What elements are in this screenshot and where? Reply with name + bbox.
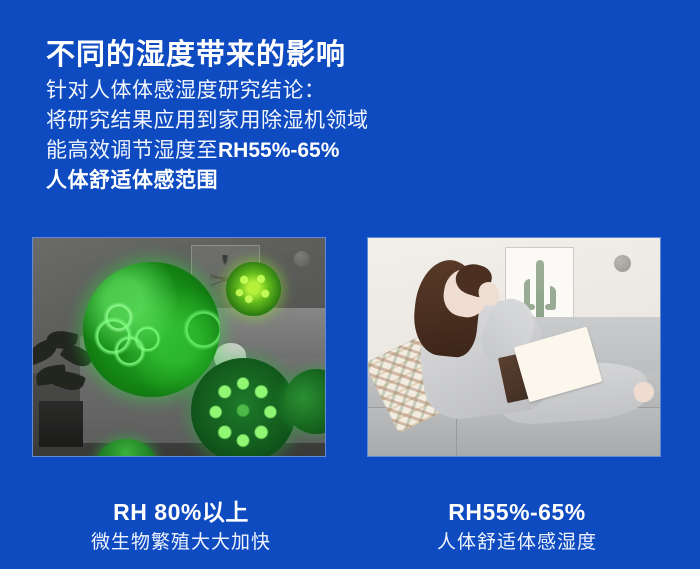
plant-pot [39, 401, 83, 447]
intro-line-3: 能高效调节湿度至RH55%-65% [46, 136, 369, 166]
cactus-stem [536, 260, 544, 325]
caption-high-humidity: RH 80%以上 微生物繁殖大大加快 [16, 497, 346, 556]
microbe-cluster-large-icon [83, 262, 220, 397]
caption-title: RH 80%以上 [16, 497, 346, 527]
intro-line-3-prefix: 能高效调节湿度至 [46, 139, 218, 162]
photo-panel-high-humidity [33, 238, 325, 456]
scene-bright-room-woman-reading [368, 238, 660, 456]
scene-dim-room-microbes [33, 238, 325, 456]
photo-panel-comfort-humidity [368, 238, 660, 456]
cactus-arm-right [550, 286, 556, 310]
caption-title: RH55%-65% [352, 497, 682, 527]
humidity-range-emphasis: RH55%-65% [218, 139, 339, 162]
humidity-comparison-slide: 不同的湿度带来的影响 针对人体体感湿度研究结论： 将研究结果应用到家用除湿机领域… [0, 0, 700, 569]
virus-sphere-icon [191, 358, 296, 456]
intro-line-4: 人体舒适体感范围 [46, 166, 369, 196]
caption-subtitle: 人体舒适体感湿度 [352, 530, 682, 556]
intro-paragraph: 针对人体体感湿度研究结论： 将研究结果应用到家用除湿机领域 能高效调节湿度至RH… [46, 76, 369, 196]
page-title: 不同的湿度带来的影响 [46, 37, 346, 73]
caption-subtitle: 微生物繁殖大大加快 [16, 530, 346, 556]
caption-comfort-humidity: RH55%-65% 人体舒适体感湿度 [352, 497, 682, 556]
intro-line-2: 将研究结果应用到家用除湿机领域 [46, 106, 369, 136]
intro-line-1: 针对人体体感湿度研究结论： [46, 76, 369, 106]
